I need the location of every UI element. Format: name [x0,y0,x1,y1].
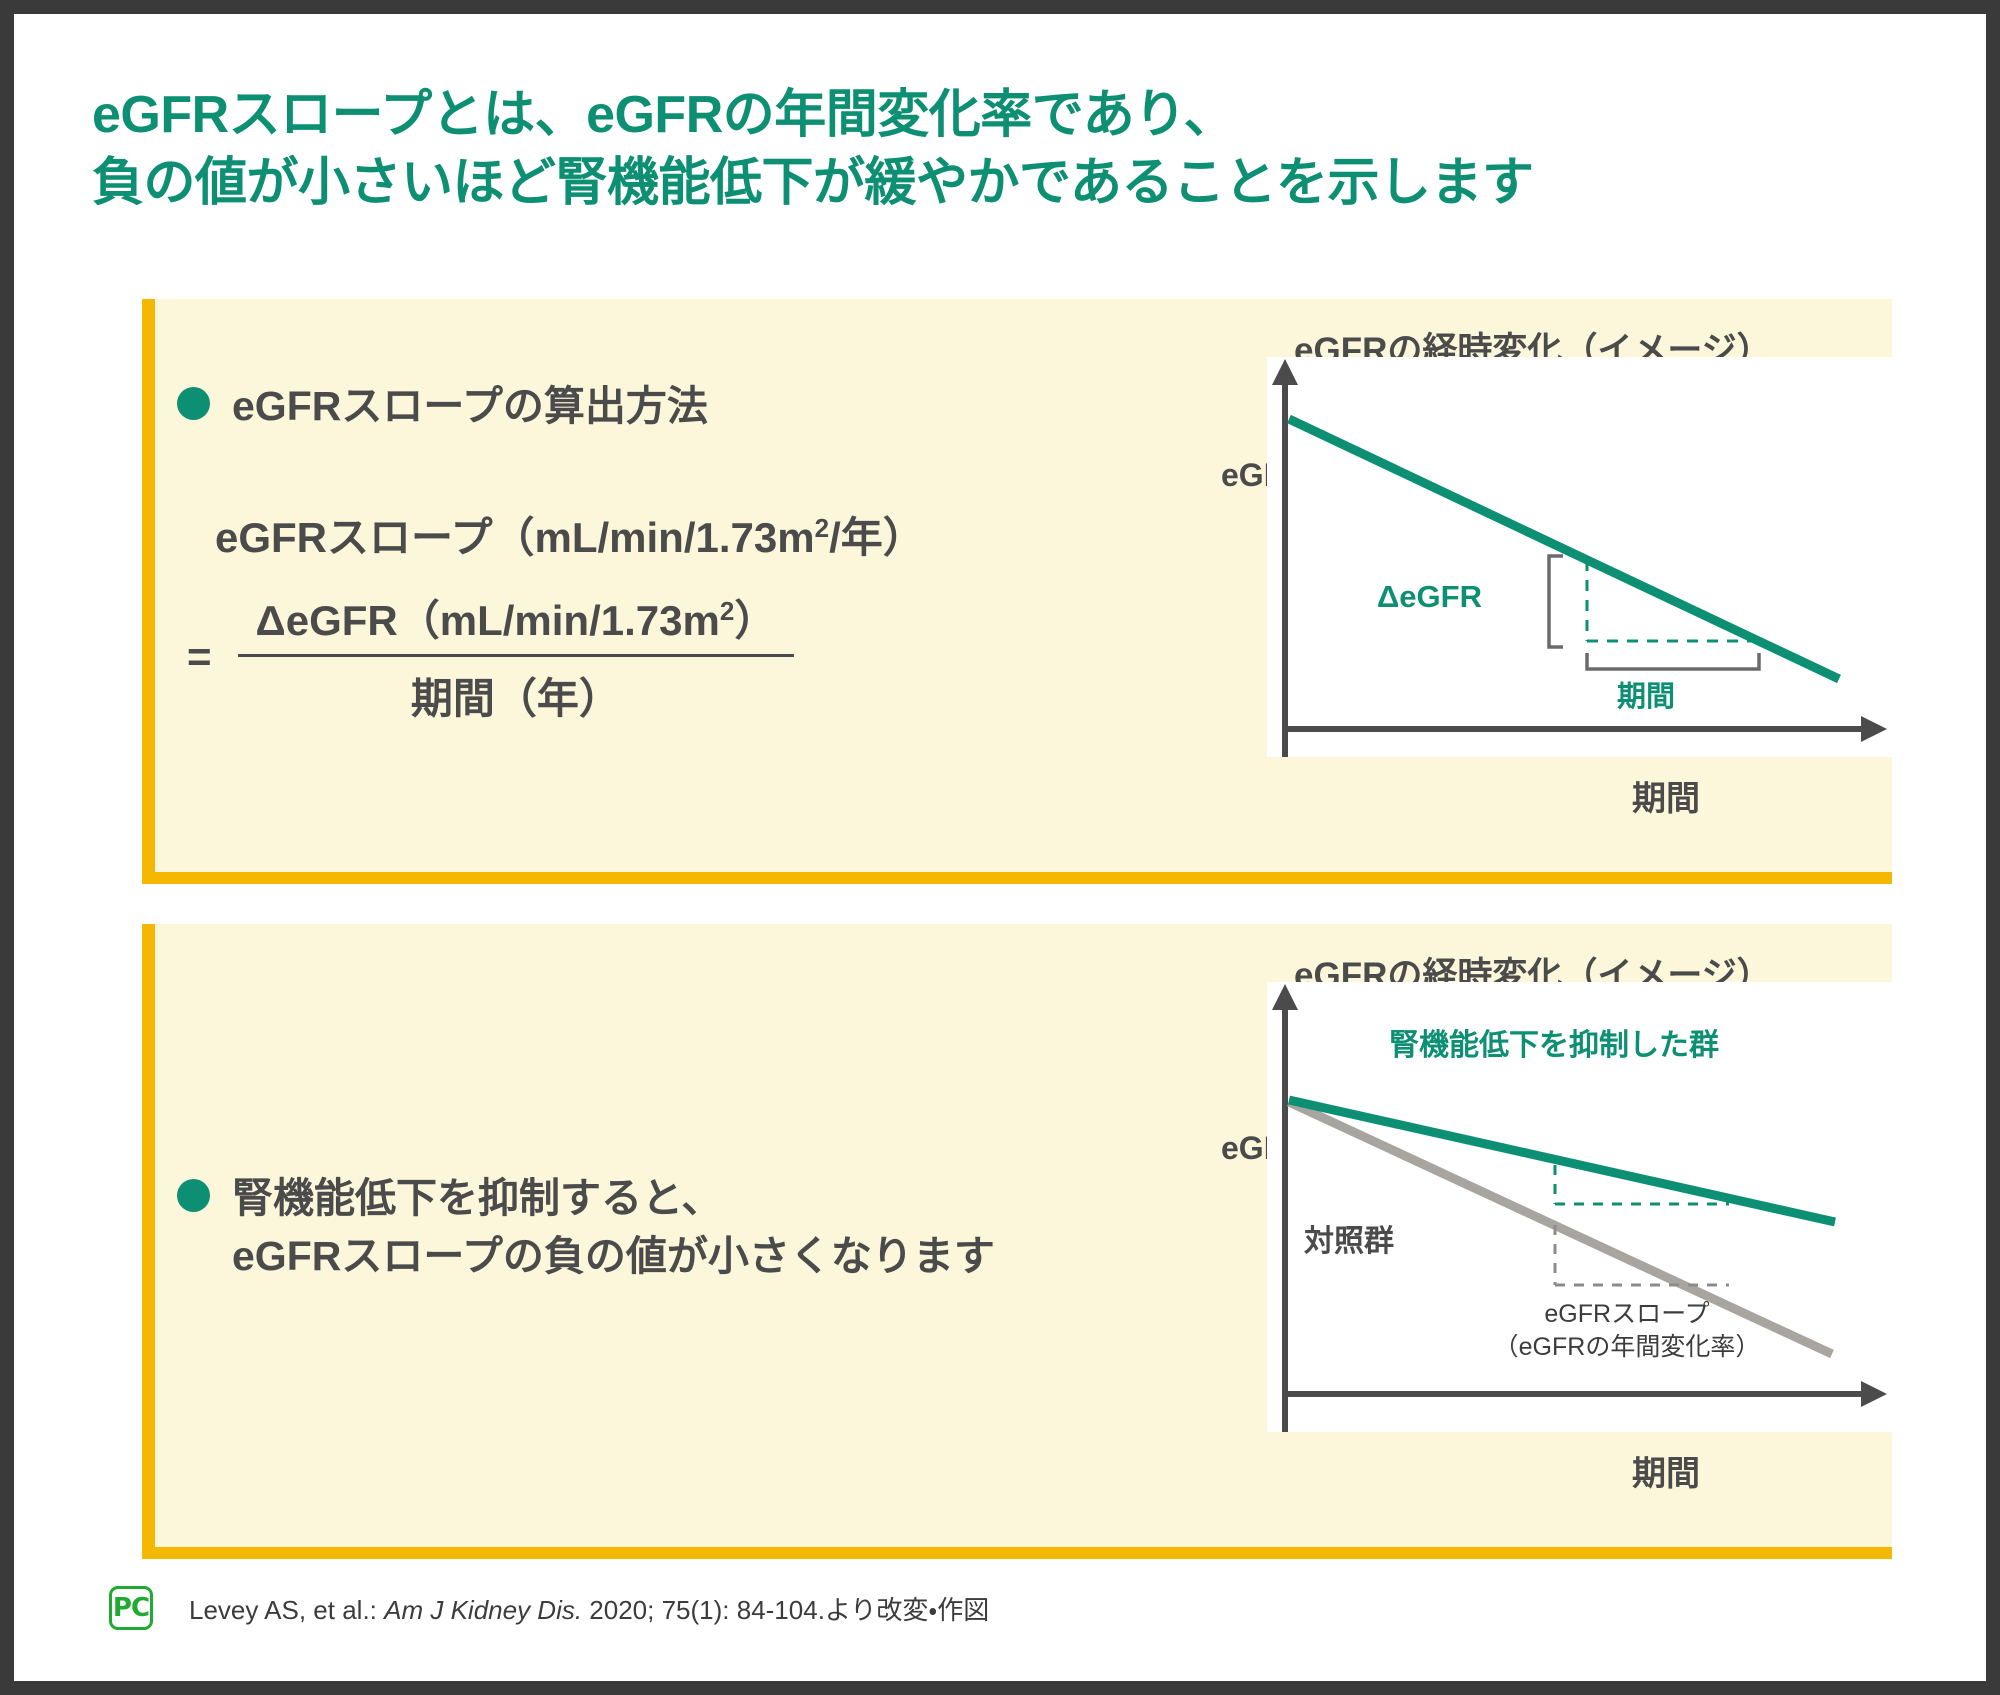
chart2-treated-series-label: 腎機能低下を抑制した群 [1389,1020,1719,1064]
formula-fraction-row: = ΔeGFR（mL/min/1.73m2） 期間（年） [177,587,925,726]
chart2-x-axis-arrow-icon [1861,1381,1887,1407]
slide-canvas: eGFRスロープとは、eGFRの年間変化率であり、 負の値が小さいほど腎機能低下… [14,14,1986,1681]
chart1-x-axis-label: 期間 [1632,771,1700,820]
chart2-control-series-label: 対照群 [1304,1216,1394,1260]
formula-equals-sign: = [187,633,212,681]
chart1-period-annotation: 期間 [1617,673,1675,715]
chart1-delta-egfr-annotation: ΔeGFR [1377,579,1482,615]
chart2-x-axis-label: 期間 [1632,1446,1700,1495]
citation-journal: Am J Kidney Dis. [384,1595,582,1625]
numerator-prefix: ΔeGFR（mL/min/1.73m [256,597,720,644]
footer: PC Levey AS, et al.: Am J Kidney Dis. 20… [109,1586,989,1630]
formula-left-superscript: 2 [815,513,829,543]
bullet-dot-icon [177,1179,210,1212]
numerator-suffix: ） [734,597,776,644]
card-calculation-method: eGFRスロープの算出方法 eGFRスロープ（mL/min/1.73m2/年） … [142,299,1892,872]
citation-part1: Levey AS, et al.: [189,1595,384,1625]
formula-denominator: 期間（年） [238,657,795,726]
formula-left-side: eGFRスロープ（mL/min/1.73m2/年） [215,504,925,565]
chart1-y-axis-label: eGFR [1221,459,1255,493]
chart2-slope-annotation-line2: （eGFRの年間変化率） [1462,1331,1792,1364]
title-line-2: 負の値が小さいほど腎機能低下が緩やかであることを示します [92,150,1922,218]
bullet-slope-interpretation: 腎機能低下を抑制すると、 eGFRスロープの負の値が小さくなります [177,1169,995,1285]
formula-fraction: ΔeGFR（mL/min/1.73m2） 期間（年） [238,587,795,726]
citation-part2: 2020; 75(1): 84-104.より改変・作図 [582,1595,989,1625]
page-title: eGFRスロープとは、eGFRの年間変化率であり、 負の値が小さいほど腎機能低下… [92,82,1922,217]
pc-logo-text: PC [113,1593,149,1623]
chart2-slope-annotation-line1: eGFRスロープ [1462,1298,1792,1331]
bullet-label: eGFRスロープの算出方法 [232,377,708,435]
card1-left-accent-bar [142,299,155,872]
bullet-calculation-method: eGFRスロープの算出方法 [177,377,708,435]
formula-left-prefix: eGFRスロープ（mL/min/1.73m [215,514,815,561]
chart1-delta-bracket [1549,556,1563,647]
egfr-slope-formula: eGFRスロープ（mL/min/1.73m2/年） = ΔeGFR（mL/min… [177,504,925,726]
formula-numerator: ΔeGFR（mL/min/1.73m2） [238,587,795,657]
formula-left-suffix: /年） [829,514,925,561]
citation-text: Levey AS, et al.: Am J Kidney Dis. 2020;… [189,1590,989,1627]
chart1-svg [1267,357,1892,757]
chart1-period-bracket [1587,653,1759,669]
chart1-plot-area: ΔeGFR 期間 [1267,357,1892,757]
bullet-dot-icon [177,387,210,420]
card1-bottom-accent-bar [142,872,1892,884]
chart2-y-axis-label: eGFR [1221,1132,1255,1166]
bullet-label: 腎機能低下を抑制すると、 eGFRスロープの負の値が小さくなります [232,1169,995,1285]
chart2-slope-annotation: eGFRスロープ （eGFRの年間変化率） [1462,1298,1792,1363]
pc-logo-icon: PC [109,1586,153,1630]
chart1-x-axis-arrow-icon [1861,716,1887,742]
card-slope-interpretation: 腎機能低下を抑制すると、 eGFRスロープの負の値が小さくなります eGFRの経… [142,924,1892,1547]
card2-bottom-accent-bar [142,1547,1892,1559]
chart2-y-axis-arrow-icon [1272,984,1298,1010]
chart2-plot-area: 腎機能低下を抑制した群 対照群 eGFRスロープ （eGFRの年間変化率） [1267,982,1892,1432]
chart1-y-axis-arrow-icon [1272,359,1298,385]
title-line-1: eGFRスロープとは、eGFRの年間変化率であり、 [92,86,1235,144]
numerator-superscript: 2 [720,596,734,626]
card2-left-accent-bar [142,924,155,1547]
